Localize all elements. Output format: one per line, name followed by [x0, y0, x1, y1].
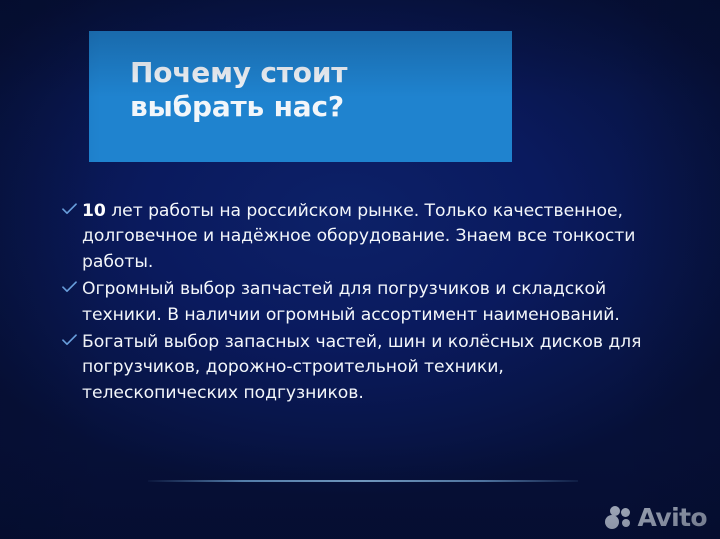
avito-wordmark: Avito: [638, 505, 707, 531]
list-item-text: 10 лет работы на российском рынке. Тольк…: [82, 199, 662, 275]
list-item-lead: 10: [82, 201, 106, 221]
check-icon: [62, 330, 82, 346]
check-icon: [62, 199, 82, 215]
list-item-body: лет работы на российском рынке. Только к…: [82, 201, 635, 272]
avito-dots-icon: [605, 505, 635, 531]
slide-canvas: Почему стоит выбрать нас? 10 лет работы …: [0, 0, 720, 539]
list-item: Огромный выбор запчастей для погрузчиков…: [62, 277, 662, 328]
page-title: Почему стоит выбрать нас?: [130, 56, 490, 124]
check-icon: [62, 277, 82, 293]
list-item: Богатый выбор запасных частей, шин и кол…: [62, 330, 662, 406]
benefits-list: 10 лет работы на российском рынке. Тольк…: [62, 199, 662, 408]
list-item-text: Богатый выбор запасных частей, шин и кол…: [82, 330, 662, 406]
list-item: 10 лет работы на российском рынке. Тольк…: [62, 199, 662, 275]
title-banner: Почему стоит выбрать нас?: [89, 31, 512, 162]
list-item-text: Огромный выбор запчастей для погрузчиков…: [82, 277, 662, 328]
footer-divider: [148, 480, 578, 482]
list-item-body: Огромный выбор запчастей для погрузчиков…: [82, 279, 620, 324]
list-item-body: Богатый выбор запасных частей, шин и кол…: [82, 332, 641, 403]
avito-logo: Avito: [605, 505, 707, 531]
